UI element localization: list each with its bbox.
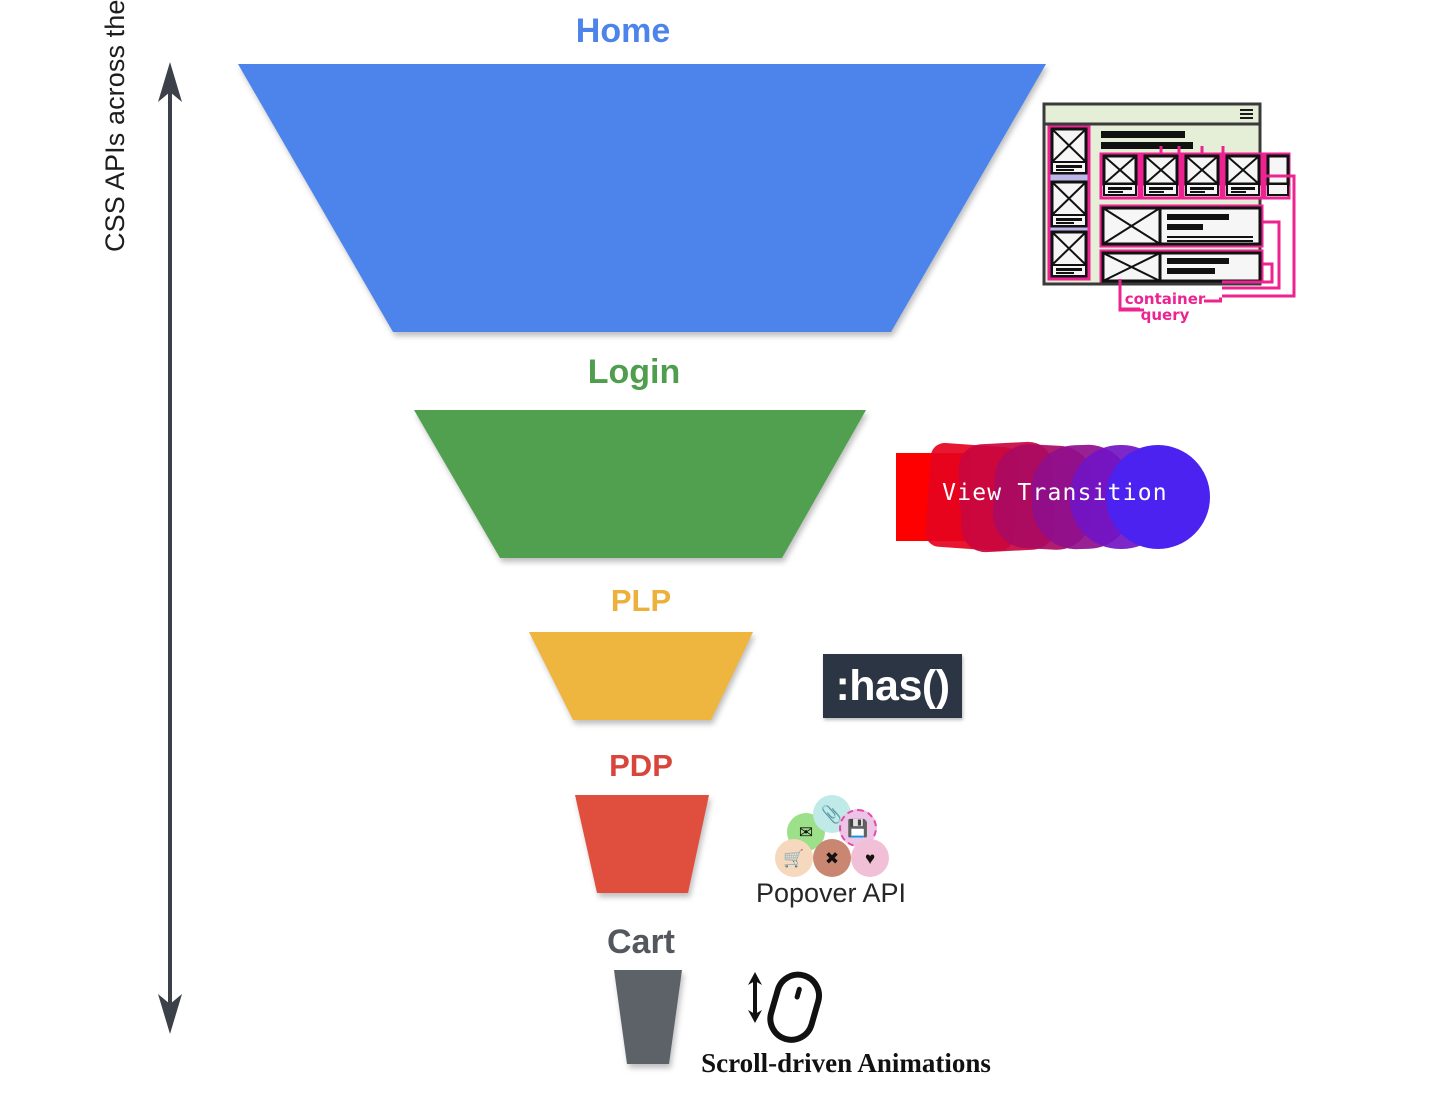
heart-icon: ♥ [865, 850, 875, 867]
popover-api-label: Popover API [681, 878, 981, 909]
stage-label-cart: Cart [441, 925, 841, 959]
popover-api-buttons: ✉ 📎 💾 🛒 ✖ ♥ [775, 795, 885, 877]
stage-label-plp: PLP [441, 585, 841, 616]
popover-button-favorite[interactable]: ♥ [851, 839, 889, 877]
scroll-driven-label: Scroll-driven Animations [626, 1048, 1066, 1079]
container-query-line2: query [1110, 307, 1220, 323]
conversion-axis-arrow [156, 62, 184, 1034]
shopping-cart-icon: 🛒 [783, 850, 804, 867]
popover-button-close[interactable]: ✖ [813, 839, 851, 877]
close-x-icon: ✖ [825, 850, 839, 867]
axis-caption: CSS APIs across the conversion funnel [100, 0, 131, 252]
funnel-stage-login [412, 408, 868, 560]
envelope-icon: ✉ [799, 824, 813, 841]
container-query-line1: container [1110, 291, 1220, 307]
container-query-label: container query [1110, 291, 1220, 323]
stage-label-login: Login [434, 355, 834, 389]
popover-button-cart[interactable]: 🛒 [775, 839, 813, 877]
has-selector-badge: :has() [823, 654, 962, 718]
floppy-disk-icon: 💾 [847, 820, 868, 837]
funnel-stage-home [236, 62, 1048, 334]
funnel-diagram: CSS APIs across the conversion funnel Ho… [0, 0, 1432, 1094]
has-selector-text: :has() [835, 662, 949, 711]
stage-label-home: Home [423, 14, 823, 48]
view-transition-label: View Transition [890, 480, 1220, 506]
stage-label-pdp: PDP [441, 750, 841, 781]
funnel-stage-plp [527, 630, 755, 722]
scroll-driven-graphic [742, 968, 840, 1048]
